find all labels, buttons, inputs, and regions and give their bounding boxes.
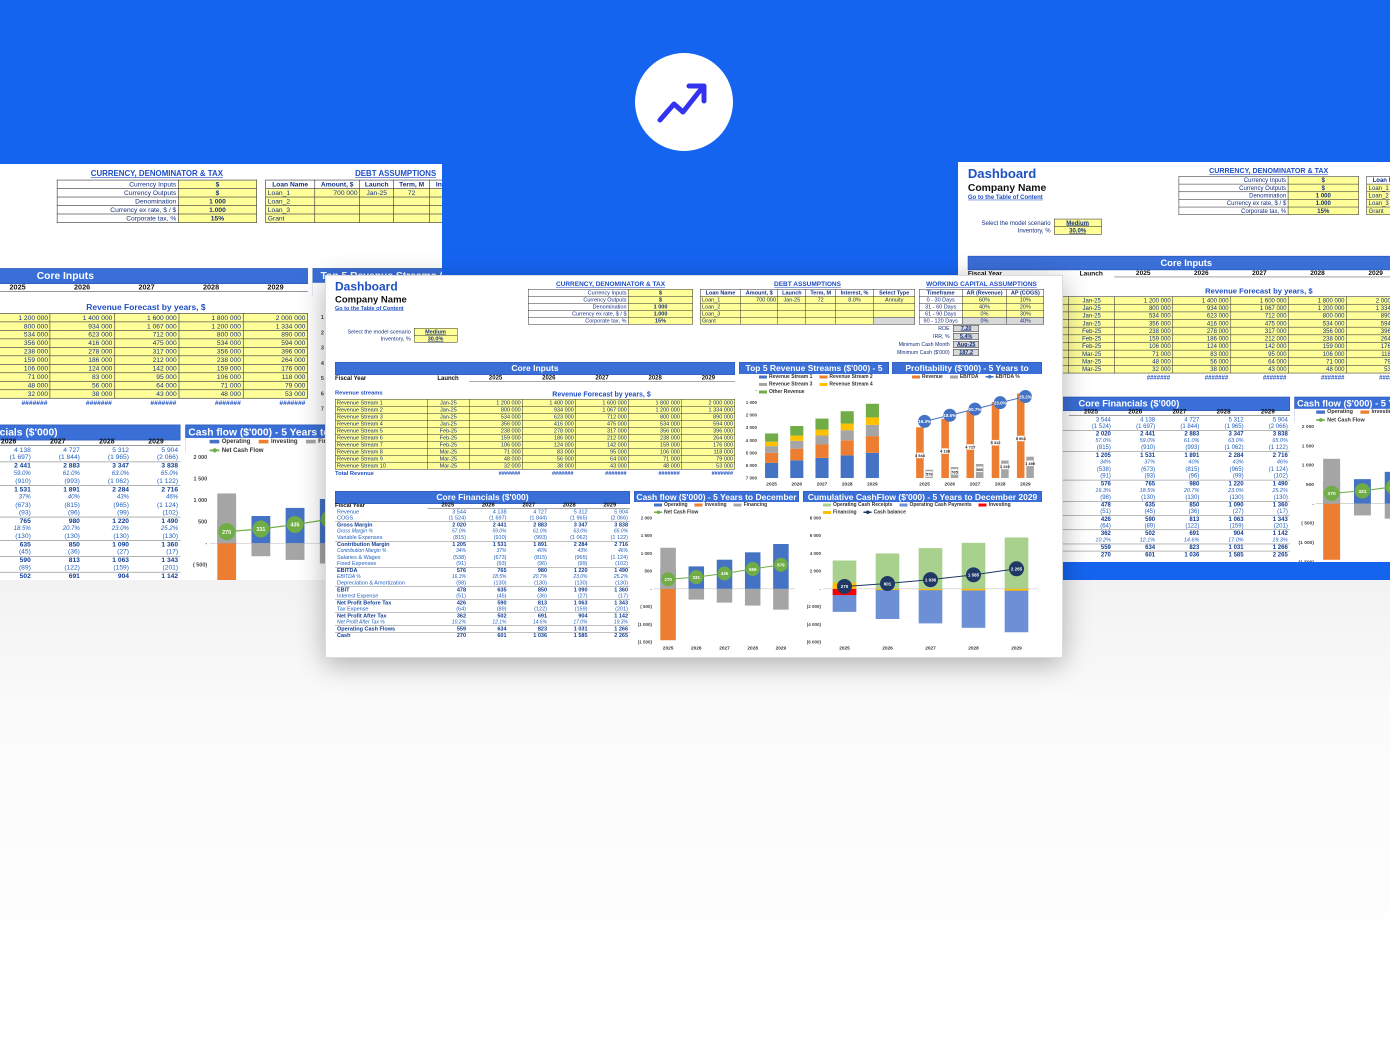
table-row[interactable]: Revenue Stream 2 Jan-25 800 000934 0001 … [335, 406, 735, 413]
table-cell[interactable]: 176 000 [1346, 342, 1390, 350]
table-cell[interactable]: 1 800 000 [179, 313, 243, 321]
table-cell[interactable]: 83 000 [522, 448, 575, 455]
table-cell[interactable]: 264 000 [1346, 335, 1390, 343]
table-cell[interactable]: 800 000 [629, 413, 682, 420]
table-cell[interactable]: 186 000 [522, 434, 575, 441]
table-cell[interactable]: 64 000 [576, 455, 629, 462]
table-cell[interactable]: 106 000 [629, 448, 682, 455]
table-cell[interactable]: 1 600 000 [114, 313, 178, 321]
table-cell[interactable]: 317 000 [1231, 327, 1289, 335]
table-cell[interactable]: 800 000 [469, 406, 522, 413]
table-cell[interactable]: 212 000 [1231, 335, 1289, 343]
kpi-label: Minimum Cash Month [897, 341, 952, 348]
currency-section-caption: CURRENCY, DENOMINATOR & TAX [1179, 166, 1359, 174]
currency-row: Currency Outputs $ [57, 189, 256, 197]
inventory-label: Inventory, % [980, 227, 1054, 235]
svg-text:2028: 2028 [842, 482, 853, 488]
table-row[interactable]: Revenue Stream 1 Jan-25 1 200 0001 400 0… [0, 313, 307, 321]
table-of-content-link[interactable]: Go to the Table of Content [968, 194, 1043, 201]
table-cell[interactable]: 79 000 [243, 381, 307, 389]
core-inputs-header: Core Inputs [968, 256, 1390, 270]
table-cell: 1 036 [1157, 551, 1201, 558]
table-cell: 1 036 [509, 632, 550, 639]
table-row[interactable]: Loan_1 700 000Jan-25 728.0% Annuity [700, 296, 915, 303]
table-cell: 426 [1069, 515, 1113, 522]
table-cell[interactable]: 1 067 000 [1231, 304, 1289, 312]
scenario-inputs-table[interactable]: Select the model scenario Medium Invento… [346, 328, 457, 343]
currency-table[interactable]: Currency Inputs $ Currency Outputs $ Den… [57, 180, 257, 223]
table-cell[interactable]: 623 000 [522, 413, 575, 420]
table-cell[interactable]: 106 000 [0, 364, 50, 372]
table-row[interactable]: Loan_3 [700, 310, 915, 317]
table-row[interactable]: 31 - 60 Days 40% 20% [919, 303, 1044, 310]
table-cell[interactable]: 71 000 [179, 381, 243, 389]
table-cell: 3 347 [1202, 430, 1246, 437]
table-cell[interactable]: 56 000 [1173, 358, 1231, 366]
legend-label: Revenue Stream 4 [829, 382, 872, 388]
table-cell[interactable]: 356 000 [1115, 320, 1173, 328]
table-cell[interactable]: 71 000 [1115, 350, 1173, 358]
table-cell[interactable]: 186 000 [1173, 335, 1231, 343]
svg-text:6 000: 6 000 [746, 463, 758, 468]
table-cell[interactable]: 95 000 [576, 448, 629, 455]
table-cell[interactable]: 594 000 [682, 420, 735, 427]
legend-label: Net Cash Flow [1327, 417, 1365, 423]
svg-text:5 312: 5 312 [991, 440, 1002, 445]
table-cell[interactable]: 186 000 [50, 356, 114, 364]
table-cell[interactable]: 56 000 [522, 455, 575, 462]
svg-text:(1 000): (1 000) [638, 622, 653, 627]
legend-item: Investing [259, 438, 298, 445]
table-cell[interactable]: 32 000 [469, 462, 522, 469]
legend-item: Other Revenue [759, 389, 805, 395]
table-cell[interactable]: 396 000 [1346, 327, 1390, 335]
table-cell[interactable]: 356 000 [179, 347, 243, 355]
table-row[interactable]: Loan_2 [266, 197, 442, 205]
table-row[interactable]: Revenue Stream 10 Mar-25 32 00038 00043 … [0, 390, 307, 398]
table-cell: (130) [33, 533, 82, 541]
table-cell[interactable]: 118 000 [243, 373, 307, 381]
table-cell: (36) [33, 548, 82, 556]
table-cell[interactable]: 934 000 [1173, 304, 1231, 312]
table-cell[interactable]: 623 000 [1173, 312, 1231, 320]
table-cell[interactable]: 79 000 [682, 455, 735, 462]
table-cell[interactable]: 212 000 [114, 356, 178, 364]
table-cell: 61.0% [1157, 437, 1201, 444]
table-cell: 16.3% [1069, 487, 1113, 494]
table-cell: (98) [1069, 494, 1113, 501]
table-row[interactable]: Grant [266, 214, 442, 222]
debt-table[interactable]: Loan NameAmount, $LaunchTerm, MInterest,… [1366, 176, 1390, 215]
legend-item: Operating [654, 502, 688, 508]
table-cell[interactable]: 475 000 [576, 420, 629, 427]
table-cell: 5 312 [1202, 416, 1246, 423]
table-cell[interactable]: 38 000 [522, 462, 575, 469]
currency-table[interactable]: Currency Inputs $ Currency Outputs $ Den… [528, 289, 693, 325]
table-cell[interactable]: 1 067 000 [576, 406, 629, 413]
table-cell: 20.7% [33, 525, 82, 533]
table-row[interactable]: Loan_3 [1367, 199, 1390, 207]
table-cell[interactable]: 83 000 [50, 373, 114, 381]
table-cell[interactable]: 238 000 [629, 434, 682, 441]
svg-text:(1 000): (1 000) [1298, 540, 1314, 546]
table-cell[interactable]: 2 000 000 [682, 399, 735, 406]
debt-table[interactable]: Loan NameAmount, $LaunchTerm, MInterest,… [265, 180, 442, 223]
table-cell: (99) [1202, 473, 1246, 480]
company-name: Company Name [968, 182, 1046, 194]
kpi-value: Aug-25 [953, 341, 979, 348]
currency-row: Denomination 1 000 [1179, 192, 1359, 200]
table-row[interactable]: Revenue Stream 8 Mar-25 71 00083 00095 0… [0, 373, 307, 381]
legend-swatch [950, 375, 958, 378]
inventory-value[interactable]: 30.0% [1054, 227, 1101, 235]
table-cell[interactable]: 43 000 [114, 390, 178, 398]
table-cell[interactable]: 800 000 [1115, 304, 1173, 312]
table-cell[interactable]: 1 334 000 [1346, 304, 1390, 312]
table-cell[interactable]: 95 000 [1231, 350, 1289, 358]
table-cell: (1 124) [1246, 466, 1290, 473]
table-cell[interactable]: 890 000 [1346, 312, 1390, 320]
table-cell[interactable]: 1 200 000 [469, 399, 522, 406]
table-cell[interactable]: 118 000 [682, 448, 735, 455]
table-cell[interactable]: 264 000 [682, 434, 735, 441]
svg-text:1 500: 1 500 [194, 477, 208, 483]
legend-item: EBITDA [950, 374, 979, 380]
table-cell: (993) [1157, 444, 1201, 451]
table-cell[interactable]: 800 000 [0, 322, 50, 330]
currency-row: Currency Outputs $ [528, 296, 693, 303]
chart-cumulative-cashflow: Operating Cash Receipts Operating Cash P… [803, 502, 1042, 652]
table-row[interactable]: Loan_2 [700, 303, 915, 310]
table-cell[interactable]: 534 000 [179, 339, 243, 347]
table-cell[interactable]: 176 000 [682, 441, 735, 448]
legend-swatch [759, 383, 767, 386]
table-row[interactable]: 0 - 30 Days 60% 10% [919, 296, 1044, 303]
table-row[interactable]: Loan_3 [266, 206, 442, 214]
legend-item: Operating [1316, 409, 1353, 415]
table-cell[interactable]: 356 000 [629, 427, 682, 434]
table-cell[interactable]: 48 000 [629, 462, 682, 469]
table-cell[interactable]: 212 000 [576, 434, 629, 441]
table-cell[interactable]: 43 000 [576, 462, 629, 469]
table-cell[interactable]: 1 600 000 [576, 399, 629, 406]
table-cell: (17) [1246, 508, 1290, 515]
table-of-content-link[interactable]: Go to the Table of Content [335, 306, 404, 312]
table-cell[interactable]: 934 000 [50, 322, 114, 330]
revenue-streams-table[interactable]: Revenue Stream 1 Jan-25 1 200 0001 400 0… [335, 399, 735, 470]
year-header: 2026 [522, 374, 575, 381]
scenario-value[interactable]: Medium [1054, 219, 1101, 227]
table-cell[interactable]: 159 000 [1288, 342, 1346, 350]
table-cell[interactable]: 106 000 [1288, 350, 1346, 358]
table-cell[interactable]: 594 000 [243, 339, 307, 347]
table-row[interactable]: Loan_2 [1367, 192, 1390, 200]
table-cell[interactable]: 356 000 [469, 420, 522, 427]
table-cell[interactable]: 56 000 [50, 381, 114, 389]
table-cell[interactable]: 32 000 [0, 390, 50, 398]
table-cell[interactable]: 317 000 [114, 347, 178, 355]
svg-text:25.2%: 25.2% [1019, 394, 1032, 399]
legend-label: Revenue Stream 1 [769, 374, 812, 380]
table-cell[interactable]: 712 000 [114, 330, 178, 338]
table-cell[interactable]: 159 000 [179, 364, 243, 372]
revenue-streams-table[interactable]: Revenue Stream 1 Jan-25 1 200 0001 400 0… [0, 313, 308, 398]
currency-table[interactable]: Currency Inputs $ Currency Outputs $ Den… [1179, 176, 1359, 215]
table-row[interactable]: Revenue Stream 8 Mar-25 71 00083 00095 0… [335, 448, 735, 455]
table-cell[interactable]: 106 000 [179, 373, 243, 381]
table-cell[interactable]: 43 000 [1231, 365, 1289, 373]
table-cell: (93) [0, 509, 33, 517]
table-cell[interactable]: 124 000 [522, 441, 575, 448]
year-header: 2029 [131, 438, 180, 446]
table-cell: 2 441 [0, 462, 33, 470]
table-row[interactable]: Revenue Stream 2 Jan-25 800 000934 0001 … [0, 322, 307, 330]
table-row[interactable]: Revenue Stream 5 Feb-25 238 000278 00031… [0, 347, 307, 355]
total-cell: ####### [682, 471, 735, 477]
table-cell[interactable]: 800 000 [179, 330, 243, 338]
dashboard-screenshot-main[interactable]: Dashboard Company Name Go to the Table o… [325, 275, 1063, 658]
core-inputs-header: Core Inputs [0, 268, 308, 284]
table-cell: 23.0% [1202, 487, 1246, 494]
table-cell: 4 138 [0, 446, 33, 454]
table-cell[interactable]: 1 800 000 [1288, 297, 1346, 305]
table-cell: (1 844) [33, 454, 82, 462]
table-cell: 765 [1113, 480, 1157, 487]
table-cell[interactable]: 159 000 [469, 434, 522, 441]
table-cell[interactable]: 238 000 [0, 347, 50, 355]
table-cell[interactable]: 2 000 000 [1346, 297, 1390, 305]
table-cell: (45) [0, 548, 33, 556]
table-cell[interactable]: 142 000 [114, 364, 178, 372]
chart-cashflow: Operating Investing Financing Net Cash F… [1294, 409, 1390, 562]
table-cell[interactable]: 623 000 [50, 330, 114, 338]
table-cell[interactable]: 264 000 [243, 356, 307, 364]
table-cell[interactable]: 106 000 [469, 441, 522, 448]
table-cell[interactable]: 1 200 000 [1115, 297, 1173, 305]
table-row[interactable]: 61 - 90 Days 0% 30% [919, 310, 1044, 317]
table-cell[interactable]: 38 000 [1173, 365, 1231, 373]
table-cell[interactable]: 1 800 000 [629, 399, 682, 406]
table-cell[interactable]: 176 000 [243, 364, 307, 372]
table-cell[interactable]: 800 000 [1288, 312, 1346, 320]
table-cell: 813 [33, 556, 82, 564]
table-cell[interactable]: 1 400 000 [1173, 297, 1231, 305]
table-cell[interactable]: 1 067 000 [114, 322, 178, 330]
svg-text:-: - [205, 541, 207, 547]
svg-text:1 000: 1 000 [641, 551, 653, 556]
table-row[interactable]: Revenue Stream 4 Jan-25 356 000416 00047… [335, 420, 735, 427]
table-cell[interactable]: 1 200 000 [1288, 304, 1346, 312]
table-cell[interactable]: 534 000 [469, 413, 522, 420]
table-cell[interactable]: 238 000 [1288, 335, 1346, 343]
working-capital-table[interactable]: TimeframeAR (Revenue)AP (COGS) 0 - 30 Da… [919, 289, 1044, 325]
table-cell[interactable]: 142 000 [576, 441, 629, 448]
table-cell[interactable]: 2 000 000 [243, 313, 307, 321]
table-cell[interactable]: 416 000 [522, 420, 575, 427]
table-row[interactable]: Grant [1367, 207, 1390, 215]
revenue-streams-label: Revenue streams [335, 390, 383, 396]
table-row[interactable]: Revenue Stream 9 Mar-25 48 00056 00064 0… [335, 455, 735, 462]
table-cell: 34% [1069, 459, 1113, 466]
table-cell[interactable]: 1 200 000 [629, 406, 682, 413]
table-cell[interactable]: 79 000 [1346, 358, 1390, 366]
table-cell[interactable]: 159 000 [0, 356, 50, 364]
year-header: 2027 [509, 502, 550, 508]
inventory-value[interactable]: 30.0% [414, 335, 457, 342]
table-cell: (17) [131, 548, 180, 556]
table-cell: (1 844) [1157, 423, 1201, 430]
kpi-value: 187.2 [953, 349, 979, 356]
table-cell[interactable]: 32 000 [1115, 365, 1173, 373]
table-row[interactable]: Revenue Stream 10 Mar-25 32 00038 00043 … [335, 462, 735, 469]
svg-text:2028: 2028 [968, 646, 979, 652]
table-cell: (965) [82, 501, 131, 509]
legend-label: Other Revenue [769, 389, 805, 395]
table-cell: 3 838 [1246, 430, 1290, 437]
table-cell[interactable]: 53 000 [1346, 365, 1390, 373]
table-cell: (96) [33, 509, 82, 517]
table-cell[interactable]: 1 200 000 [179, 322, 243, 330]
table-cell[interactable]: 159 000 [629, 441, 682, 448]
table-cell[interactable]: 95 000 [114, 373, 178, 381]
table-cell[interactable]: 38 000 [50, 390, 114, 398]
table-cell[interactable]: 71 000 [629, 455, 682, 462]
svg-text:435: 435 [721, 571, 729, 576]
table-cell[interactable]: 1 334 000 [243, 322, 307, 330]
table-cell[interactable]: 534 000 [629, 420, 682, 427]
table-row[interactable]: Revenue Stream 9 Mar-25 48 00056 00064 0… [0, 381, 307, 389]
table-cell[interactable]: 416 000 [50, 339, 114, 347]
table-row[interactable]: Revenue Stream 7 Feb-25 106 000124 00014… [0, 364, 307, 372]
svg-text:(4 000): (4 000) [807, 622, 822, 627]
legend-label: Financing [744, 502, 768, 508]
table-cell[interactable]: 1 200 000 [0, 313, 50, 321]
scenario-inputs-table[interactable]: Select the model scenario Medium Invento… [980, 219, 1102, 235]
table-cell[interactable]: 48 000 [179, 390, 243, 398]
table-cell[interactable]: 48 000 [469, 455, 522, 462]
table-cell[interactable]: 159 000 [1115, 335, 1173, 343]
table-cell[interactable]: 890 000 [243, 330, 307, 338]
table-cell[interactable]: 356 000 [1288, 327, 1346, 335]
table-cell[interactable]: 238 000 [179, 356, 243, 364]
table-cell[interactable]: 712 000 [576, 413, 629, 420]
table-row[interactable]: Loan_1 700 000Jan-25 728.0% Annuity [266, 189, 442, 197]
table-cell[interactable]: 64 000 [1231, 358, 1289, 366]
table-row[interactable]: Revenue Stream 7 Feb-25 106 000124 00014… [335, 441, 735, 448]
legend-label: Revenue Stream 3 [769, 382, 812, 388]
table-row[interactable]: Revenue Stream 4 Jan-25 356 000416 00047… [0, 339, 307, 347]
table-cell[interactable]: 142 000 [1231, 342, 1289, 350]
table-cell[interactable]: 118 000 [1346, 350, 1390, 358]
table-cell[interactable]: 396 000 [682, 427, 735, 434]
table-cell[interactable]: 1 400 000 [522, 399, 575, 406]
table-cell: 1 142 [131, 572, 180, 580]
table-cell: (159) [1202, 522, 1246, 529]
table-cell[interactable]: 534 000 [1288, 320, 1346, 328]
table-cell: (64) [1069, 522, 1113, 529]
currency-row: Corporate tax, % 15% [1179, 207, 1359, 215]
table-cell[interactable]: 1 334 000 [682, 406, 735, 413]
table-cell[interactable]: 712 000 [1231, 312, 1289, 320]
table-cell[interactable]: 356 000 [0, 339, 50, 347]
table-row[interactable]: Grant [700, 317, 915, 324]
table-row[interactable]: Loan_1 700 000Jan-25 728.0% Annuity [1367, 184, 1390, 192]
svg-text:2028: 2028 [747, 646, 758, 652]
table-cell: (201) [131, 564, 180, 572]
table-cell[interactable]: 890 000 [682, 413, 735, 420]
table-row[interactable]: Revenue Stream 3 Jan-25 534 000623 00071… [335, 413, 735, 420]
legend-swatch [823, 503, 831, 506]
table-cell[interactable]: 594 000 [1346, 320, 1390, 328]
table-cell[interactable]: 278 000 [522, 427, 575, 434]
table-cell[interactable]: 278 000 [50, 347, 114, 355]
table-cell[interactable]: 238 000 [1115, 327, 1173, 335]
table-cell[interactable]: 106 000 [1115, 342, 1173, 350]
table-cell[interactable]: 48 000 [1115, 358, 1173, 366]
table-cell[interactable]: 317 000 [576, 427, 629, 434]
table-cell[interactable]: 534 000 [0, 330, 50, 338]
column-header: Amount, $ [741, 289, 778, 296]
table-cell[interactable]: 71 000 [469, 448, 522, 455]
table-cell[interactable]: 416 000 [1173, 320, 1231, 328]
table-cell[interactable]: 71 000 [0, 373, 50, 381]
table-cell[interactable]: 1 400 000 [50, 313, 114, 321]
table-cell: (130) [82, 533, 131, 541]
table-cell[interactable]: 238 000 [469, 427, 522, 434]
legend-label: EBITDA % [995, 374, 1019, 380]
table-cell[interactable]: 71 000 [1288, 358, 1346, 366]
year-header: 2028 [1288, 269, 1346, 277]
table-cell[interactable]: 64 000 [114, 381, 178, 389]
svg-text:-: - [651, 586, 653, 591]
table-row[interactable]: Revenue Stream 6 Feb-25 159 000186 00021… [335, 434, 735, 441]
row-label: Cash [335, 632, 428, 639]
table-cell[interactable]: 534 000 [1115, 312, 1173, 320]
table-row[interactable]: Revenue Stream 1 Jan-25 1 200 0001 400 0… [335, 399, 735, 406]
table-cell: 1 220 [1202, 480, 1246, 487]
table-cell[interactable]: 48 000 [0, 381, 50, 389]
table-cell: (1 062) [82, 477, 131, 485]
svg-text:4 000: 4 000 [810, 551, 822, 556]
table-cell: 980 [1157, 480, 1201, 487]
svg-text:4 727: 4 727 [965, 444, 976, 449]
table-row[interactable]: Revenue Stream 3 Jan-25 534 000623 00071… [0, 330, 307, 338]
table-row[interactable]: Revenue Stream 5 Feb-25 238 000278 00031… [335, 427, 735, 434]
table-row[interactable]: Revenue Stream 6 Feb-25 159 000186 00021… [0, 356, 307, 364]
table-cell[interactable]: 124 000 [1173, 342, 1231, 350]
table-cell[interactable]: 278 000 [1173, 327, 1231, 335]
table-cell[interactable]: 83 000 [1173, 350, 1231, 358]
table-cell: (1 524) [1069, 423, 1113, 430]
table-cell[interactable]: 475 000 [114, 339, 178, 347]
table-cell[interactable]: 53 000 [243, 390, 307, 398]
table-cell[interactable]: 53 000 [682, 462, 735, 469]
table-cell: 65.0% [1246, 437, 1290, 444]
table-cell[interactable]: 48 000 [1288, 365, 1346, 373]
table-cell[interactable]: 934 000 [522, 406, 575, 413]
table-cell: (36) [1157, 508, 1201, 515]
table-cell[interactable]: 475 000 [1231, 320, 1289, 328]
svg-text:601: 601 [884, 581, 892, 586]
table-cell[interactable]: 396 000 [243, 347, 307, 355]
table-cell[interactable]: 1 600 000 [1231, 297, 1289, 305]
svg-text:1 585: 1 585 [968, 573, 980, 578]
inventory-label: Inventory, % [346, 335, 414, 342]
debt-table[interactable]: Loan NameAmount, $LaunchTerm, MInterest,… [700, 289, 915, 325]
kpi-label: IRR, % [897, 333, 952, 340]
table-cell[interactable]: 124 000 [50, 364, 114, 372]
scenario-value[interactable]: Medium [414, 328, 457, 335]
